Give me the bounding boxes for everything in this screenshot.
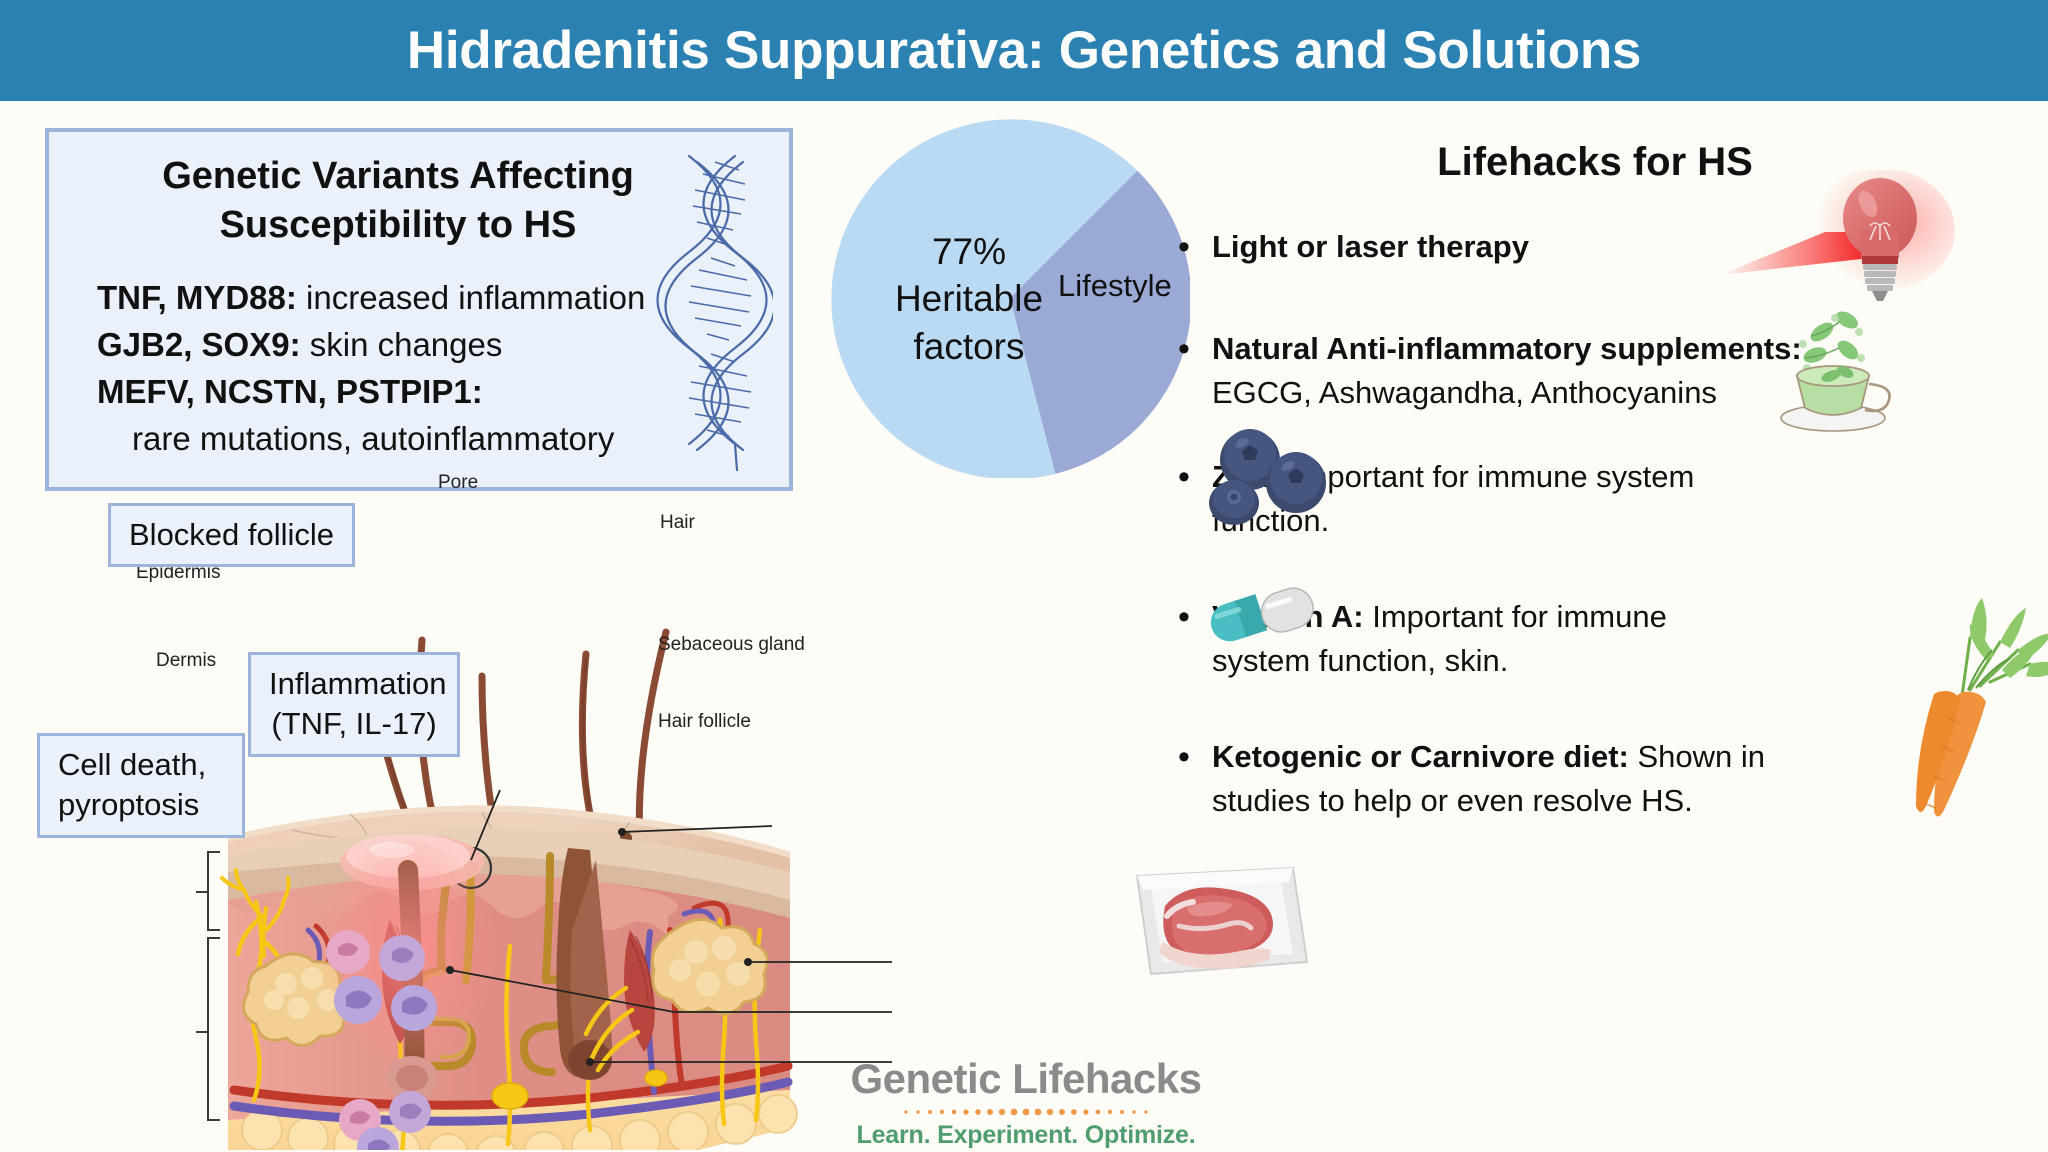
callout-blocked-follicle: Blocked follicle xyxy=(108,503,355,567)
steak-tray-icon xyxy=(1125,850,1315,990)
green-tea-cup-icon xyxy=(1775,300,1935,435)
lifehack-2-sub: EGCG, Ashwagandha, Anthocyanins xyxy=(1212,371,1810,415)
infographic-root: Hidradenitis Suppurativa: Genetics and S… xyxy=(0,0,2048,1152)
skin-pin-label-hair-follicle: Hair follicle xyxy=(658,711,751,733)
page-title: Hidradenitis Suppurativa: Genetics and S… xyxy=(407,20,1641,81)
logo-dot-divider xyxy=(876,1108,1176,1116)
gene-row-1-desc: increased inflammation xyxy=(297,279,646,316)
lifehack-2-bold: Natural Anti-inflammatory supplements: xyxy=(1212,331,1802,366)
lifehack-5-bold: Ketogenic or Carnivore diet: xyxy=(1212,739,1629,774)
capsules-icon xyxy=(1200,570,1330,665)
pie-label-heritable-word1: Heritable xyxy=(874,275,1064,322)
skin-layer-label-dermis: Dermis xyxy=(156,650,216,672)
pie-label-heritable-pct: 77% xyxy=(874,228,1064,275)
carrots-icon xyxy=(1850,590,2048,855)
gene-row-1-genes: TNF, MYD88: xyxy=(97,279,297,316)
skin-pin-label-hair: Hair xyxy=(660,512,695,534)
lifehack-1-bold: Light or laser therapy xyxy=(1212,229,1529,264)
heritability-pie-chart: 77% Heritable factors Lifestyle xyxy=(830,118,1190,478)
gene-row-3-genes: MEFV, NCSTN, PSTPIP1: xyxy=(97,373,483,410)
gene-row-1: TNF, MYD88: increased inflammation xyxy=(97,275,789,322)
pie-label-heritable: 77% Heritable factors xyxy=(874,228,1064,370)
red-light-bulb-icon xyxy=(1720,170,1970,315)
genetic-variants-list: TNF, MYD88: increased inflammation GJB2,… xyxy=(49,249,789,462)
gene-row-2-genes: GJB2, SOX9: xyxy=(97,326,301,363)
gene-row-3: MEFV, NCSTN, PSTPIP1: xyxy=(97,369,789,416)
genetic-variants-panel: Genetic Variants Affecting Susceptibilit… xyxy=(45,128,793,491)
gene-row-2-desc: skin changes xyxy=(301,326,503,363)
skin-pin-label-pore: Pore xyxy=(438,472,478,494)
genetic-variants-heading-line1: Genetic Variants Affecting xyxy=(67,152,729,201)
header-bar: Hidradenitis Suppurativa: Genetics and S… xyxy=(0,0,2048,101)
brand-name: Genetic Lifehacks xyxy=(846,1055,1206,1103)
list-item: Natural Anti-inflammatory supplements: E… xyxy=(1150,327,1810,415)
skin-pin-label-sebaceous-gland: Sebaceous gland xyxy=(658,634,805,656)
genetic-variants-heading: Genetic Variants Affecting Susceptibilit… xyxy=(49,132,789,249)
callout-cell-death: Cell death, pyroptosis xyxy=(37,733,245,838)
brand-tagline: Learn. Experiment. Optimize. xyxy=(846,1121,1206,1150)
callout-inflammation: Inflammation (TNF, IL-17) xyxy=(248,652,460,757)
gene-row-2: GJB2, SOX9: skin changes xyxy=(97,322,789,369)
gene-row-3-continuation: rare mutations, autoinflammatory xyxy=(97,416,789,463)
blueberries-icon xyxy=(1192,425,1342,545)
pie-label-heritable-word2: factors xyxy=(874,323,1064,370)
genetic-variants-heading-line2: Susceptibility to HS xyxy=(67,201,729,250)
list-item: Ketogenic or Carnivore diet: Shown in st… xyxy=(1150,735,1770,823)
brand-logo: Genetic Lifehacks Learn. Experiment. Opt… xyxy=(846,1055,1206,1150)
